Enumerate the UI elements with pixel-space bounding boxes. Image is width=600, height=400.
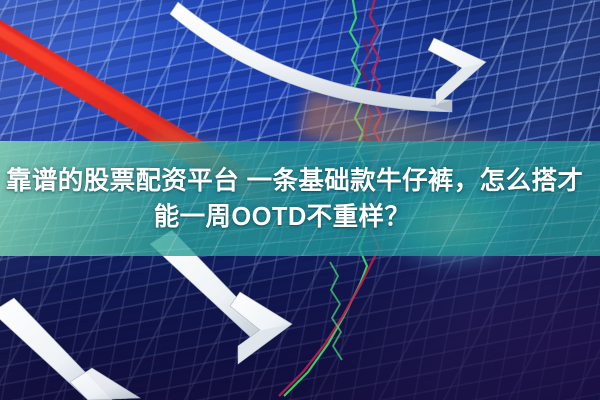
arrow-top-right <box>170 2 486 112</box>
caption-line-1: 靠谱的股票配资平台 一条基础款牛仔裤，怎么搭才 <box>6 163 594 199</box>
caption-line-2: 能一周OOTD不重样？ <box>6 199 594 235</box>
banner-image: 靠谱的股票配资平台 一条基础款牛仔裤，怎么搭才 能一周OOTD不重样？ <box>0 0 600 400</box>
caption-text-block: 靠谱的股票配资平台 一条基础款牛仔裤，怎么搭才 能一周OOTD不重样？ <box>0 141 600 256</box>
arrow-bottom-left <box>0 298 140 400</box>
